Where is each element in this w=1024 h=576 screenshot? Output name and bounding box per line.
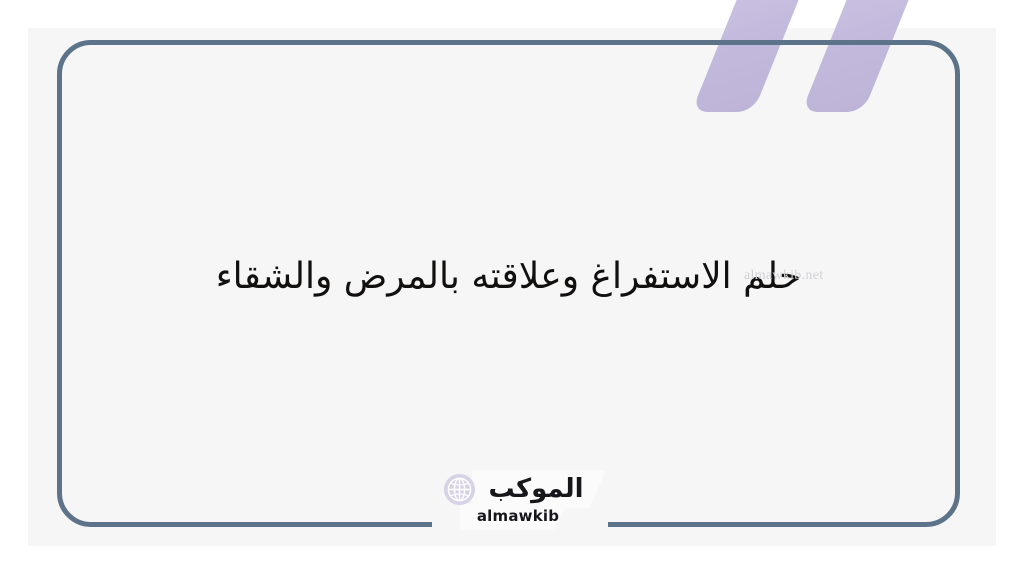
logo-brand-latin: almawkib [466,505,570,527]
site-watermark: almawkib.net [744,268,823,284]
headline-container: حلم الاستفراغ وعلاقته بالمرض والشقاء [57,250,960,304]
brand-logo[interactable]: الموكب almawkib [432,468,612,538]
card-canvas: حلم الاستفراغ وعلاقته بالمرض والشقاء alm… [0,0,1024,576]
page-title: حلم الاستفراغ وعلاقته بالمرض والشقاء [57,250,960,304]
globe-icon [443,473,476,506]
logo-brand-arabic: الموكب [480,472,592,506]
